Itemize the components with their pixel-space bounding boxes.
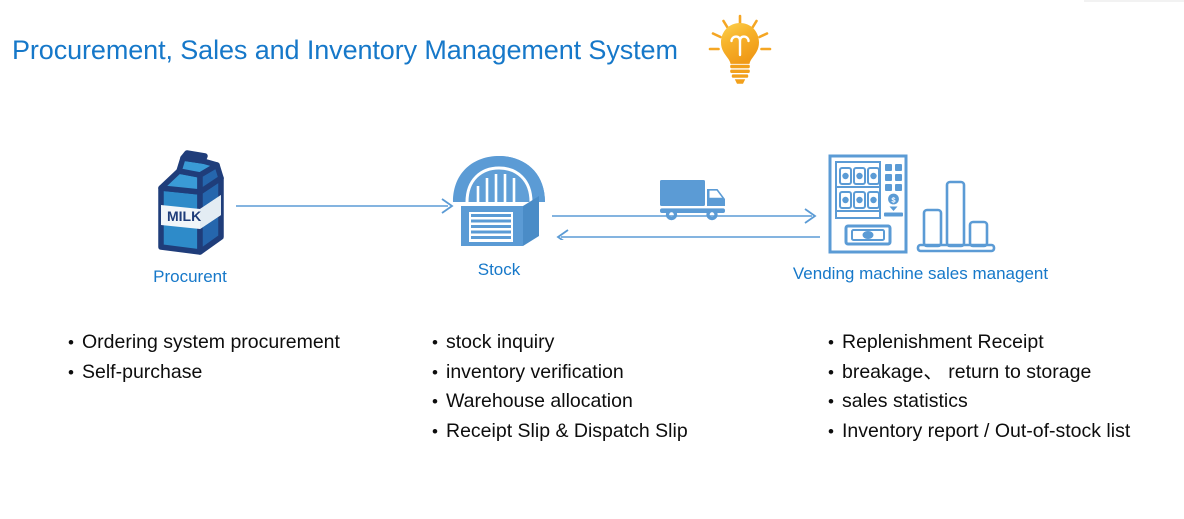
list-item: • Replenishment Receipt [828,328,1130,358]
bullet-dot-icon: • [432,358,446,388]
list-item-label: Ordering system procurement [82,328,340,358]
bullet-dot-icon: • [432,387,446,417]
list-item-label: stock inquiry [446,328,554,358]
process-flow-diagram: MILK Procurent [0,0,1184,170]
milk-carton-label: MILK [167,208,201,224]
node-procurement: MILK Procurent [143,145,237,262]
list-item-label: Self-purchase [82,358,202,388]
list-item: • breakage、 return to storage [828,358,1130,388]
list-item-label: Warehouse allocation [446,387,633,417]
vending-machine-icon: $ [828,154,1013,261]
bullet-dot-icon: • [68,358,82,388]
list-item-label: Receipt Slip & Dispatch Slip [446,417,688,447]
arrow-stock-vending-bidirectional [552,176,824,245]
column-vending-items: • Replenishment Receipt • breakage、 retu… [828,328,1130,446]
bullet-dot-icon: • [432,417,446,447]
list-item: • Self-purchase [68,358,340,388]
bar-chart-icon [918,182,994,251]
node-stock: Stock [447,148,551,255]
list-item: • stock inquiry [432,328,688,358]
coin-slot-icon: $ [884,194,903,217]
list-item-label: Inventory report / Out-of-stock list [842,417,1130,447]
list-item-label: inventory verification [446,358,624,388]
delivery-truck-icon [660,180,725,220]
list-item: • Warehouse allocation [432,387,688,417]
list-item: • Inventory report / Out-of-stock list [828,417,1130,447]
dispense-tray-icon [846,226,890,244]
node-label-vending: Vending machine sales managent [793,264,1048,284]
bullet-dot-icon: • [828,417,842,447]
list-item: • sales statistics [828,387,1130,417]
node-vending: $ Vending machine sal [828,154,1013,261]
list-item-label: breakage、 return to storage [842,358,1091,388]
list-item-label: sales statistics [842,387,968,417]
arrow-procurement-to-stock [236,196,458,221]
list-item: • Ordering system procurement [68,328,340,358]
list-item: • inventory verification [432,358,688,388]
bullet-dot-icon: • [828,328,842,358]
bullet-dot-icon: • [432,328,446,358]
bullet-dot-icon: • [828,387,842,417]
column-procurement-items: • Ordering system procurement • Self-pur… [68,328,340,387]
list-item-label: Replenishment Receipt [842,328,1044,358]
node-label-procurement: Procurent [153,267,227,287]
node-label-stock: Stock [478,260,521,280]
milk-carton-icon: MILK [143,145,237,262]
bullet-dot-icon: • [68,328,82,358]
list-item: • Receipt Slip & Dispatch Slip [432,417,688,447]
bullet-dot-icon: • [828,358,842,388]
column-stock-items: • stock inquiry • inventory verification… [432,328,688,446]
warehouse-icon [447,148,551,255]
